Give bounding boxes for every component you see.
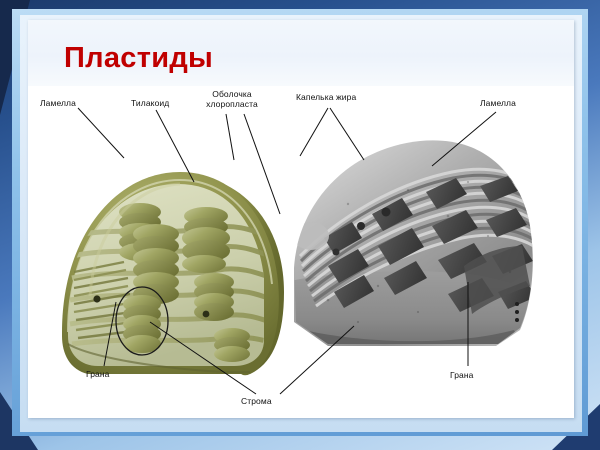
label-stroma: Строма: [241, 396, 272, 406]
granum-stack-f: [214, 328, 250, 362]
page-title: Пластиды: [64, 42, 213, 75]
label-fat-droplet: Капелька жира: [296, 92, 356, 102]
fat-droplet-a: [357, 222, 365, 230]
granum-stack-c: [182, 207, 230, 273]
slide-title-band: Пластиды: [28, 20, 574, 86]
slide-frame: Пластиды: [0, 0, 600, 450]
granum-stack-d: [194, 273, 234, 321]
label-chloroplast-envelope: Оболочка хлоропласта: [199, 89, 265, 109]
leader-fat-droplet-b: [330, 108, 364, 160]
leader-thylakoid: [156, 110, 194, 182]
fat-droplet-b: [382, 208, 391, 217]
label-thylakoid: Тилакоид: [131, 98, 169, 108]
chloroplast-model-3d: [62, 172, 284, 375]
label-lamella-left: Ламелла: [40, 98, 76, 108]
leader-envelope-b: [244, 114, 280, 214]
fat-droplet-c: [333, 249, 340, 256]
chloroplast-micrograph: [286, 140, 542, 354]
plastoglobule: [203, 311, 210, 318]
leader-envelope-a: [226, 114, 234, 160]
leader-lamella-left: [78, 108, 124, 158]
granum-stack-highlighted: [123, 295, 161, 353]
slide-surface: Пластиды: [28, 20, 574, 418]
micrograph-envelope-bulge: [293, 222, 329, 250]
plastoglobule: [93, 295, 100, 302]
figure-canvas: Ламелла Тилакоид Оболочка хлоропласта Ка…: [28, 86, 574, 418]
label-granum-right: Грана: [450, 370, 474, 380]
label-lamella-right: Ламелла: [480, 98, 516, 108]
leader-fat-droplet-a: [300, 108, 328, 156]
micrograph-corner-dots: [515, 302, 519, 322]
label-granum-left: Грана: [86, 369, 110, 379]
